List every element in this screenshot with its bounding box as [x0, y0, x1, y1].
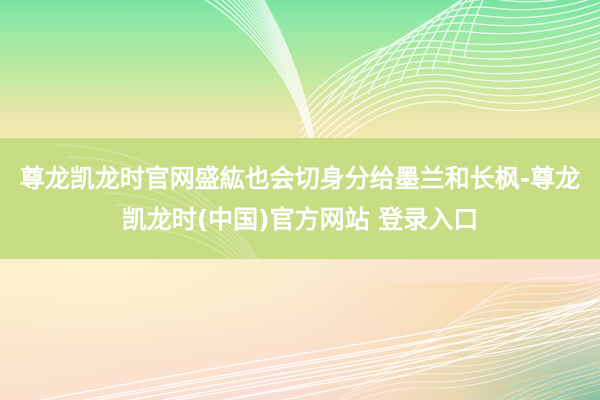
banner-title-line-2: 凯龙时(中国)官方网站 登录入口	[122, 199, 479, 240]
title-band: 尊龙凯龙时官网盛紘也会切身分给墨兰和长枫-尊龙 凯龙时(中国)官方网站 登录入口	[0, 138, 600, 259]
bottom-teal-overlay	[340, 290, 600, 400]
top-gradient-background	[0, 0, 600, 139]
banner-title-line-1: 尊龙凯龙时官网盛紘也会切身分给墨兰和长枫-尊龙	[20, 158, 580, 199]
decorative-banner: 尊龙凯龙时官网盛紘也会切身分给墨兰和长枫-尊龙 凯龙时(中国)官方网站 登录入口	[0, 0, 600, 400]
